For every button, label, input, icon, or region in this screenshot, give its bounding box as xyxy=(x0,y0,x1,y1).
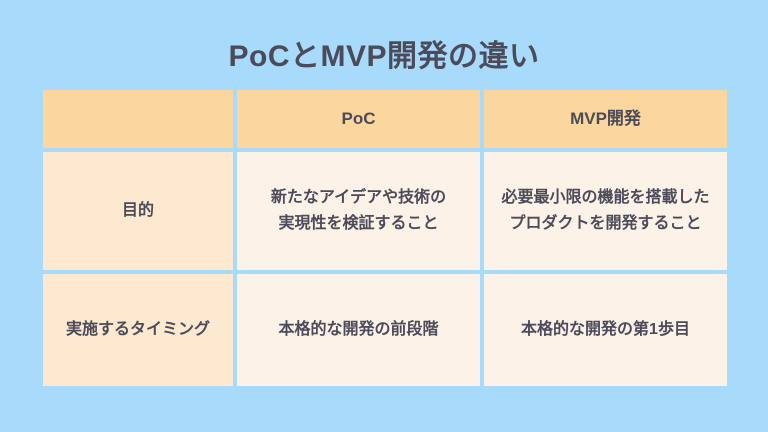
cell-timing-poc: 本格的な開発の前段階 xyxy=(237,274,480,386)
cell-line: 本格的な開発の第1歩目 xyxy=(490,317,721,343)
slide-canvas: PoCとMVP開発の違い PoC MVP開発 目的 新たなアイデアや技術の 実現… xyxy=(0,0,768,432)
cell-purpose-poc: 新たなアイデアや技術の 実現性を検証すること xyxy=(237,152,480,270)
cell-line: 本格的な開発の前段階 xyxy=(243,317,474,343)
table-row: 実施するタイミング 本格的な開発の前段階 本格的な開発の第1歩目 xyxy=(43,274,727,386)
header-cell-blank xyxy=(43,90,233,148)
table-row: 目的 新たなアイデアや技術の 実現性を検証すること 必要最小限の機能を搭載した … xyxy=(43,152,727,270)
cell-purpose-mvp: 必要最小限の機能を搭載した プロダクトを開発すること xyxy=(484,152,727,270)
comparison-table: PoC MVP開発 目的 新たなアイデアや技術の 実現性を検証すること 必要最小… xyxy=(39,86,731,390)
cell-line: 必要最小限の機能を搭載した xyxy=(490,185,721,211)
row-label-timing: 実施するタイミング xyxy=(43,274,233,386)
header-cell-poc: PoC xyxy=(237,90,480,148)
page-title: PoCとMVP開発の違い xyxy=(0,38,768,76)
cell-timing-mvp: 本格的な開発の第1歩目 xyxy=(484,274,727,386)
cell-line: 実現性を検証すること xyxy=(243,211,474,237)
cell-line: 新たなアイデアや技術の xyxy=(243,185,474,211)
cell-line: プロダクトを開発すること xyxy=(490,211,721,237)
row-label-purpose: 目的 xyxy=(43,152,233,270)
header-cell-mvp: MVP開発 xyxy=(484,90,727,148)
table-header-row: PoC MVP開発 xyxy=(43,90,727,148)
